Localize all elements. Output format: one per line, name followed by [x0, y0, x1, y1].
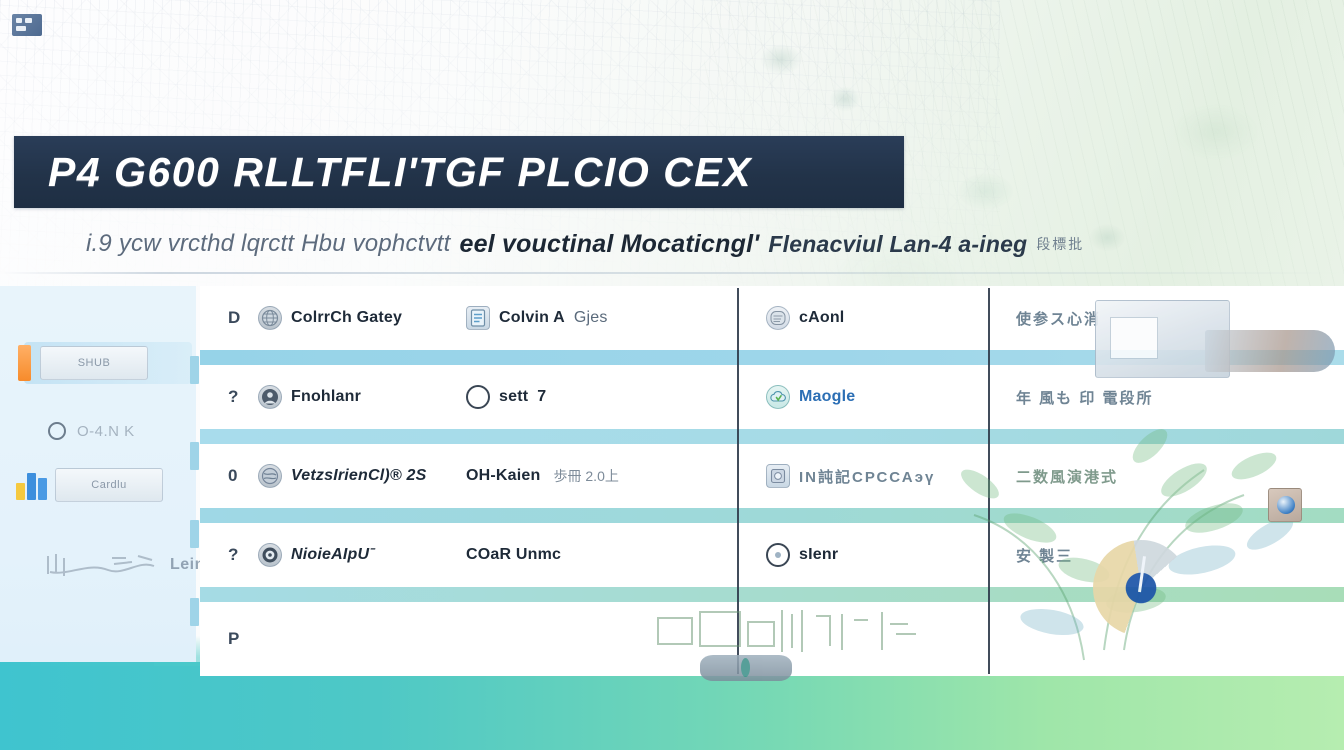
sidebar-item-2[interactable]: Cardlu: [16, 462, 163, 508]
cell-label: 年 風も 印 電段所: [1016, 387, 1154, 408]
table-row[interactable]: P: [200, 602, 1344, 676]
cell-label: sett: [499, 388, 528, 406]
subtitle-marks: 段標批: [1036, 234, 1084, 254]
row-index: 0: [200, 466, 258, 486]
cell-col1[interactable]: NioieAIpUˉ: [258, 543, 466, 567]
ring-icon: [258, 543, 282, 567]
table-row[interactable]: 0 VetzsIrienCl)® 2S OH-Kaien 歩冊 2.0上: [200, 444, 1344, 508]
table-row[interactable]: ? Fnohlanr sett 7 Maogle: [200, 365, 1344, 429]
sidebar-item-0[interactable]: SHUB: [18, 340, 148, 386]
globe-icon: [258, 306, 282, 330]
subtitle-lead: i.9 ycw vrcthd lqrctt Hbu vophctvtt: [86, 230, 450, 258]
page-title: P4 G600 RLLTFLI'TGF PLCIO CEX: [14, 149, 752, 196]
cell-label: Fnohlanr: [291, 388, 361, 406]
row-index: ?: [200, 545, 258, 565]
row-separator: [200, 587, 1344, 602]
cell-col2[interactable]: OH-Kaien 歩冊 2.0上: [466, 466, 736, 486]
sidebar-item-label: O-4.N K: [77, 423, 135, 440]
globe-icon: [258, 464, 282, 488]
cell-label: VetzsIrienCl)® 2S: [291, 467, 427, 485]
cell-label: IN訰記СРССАэү: [799, 466, 935, 487]
cell-col1[interactable]: ColrrCh Gatey: [258, 306, 466, 330]
cell-label: cAonl: [799, 309, 844, 327]
cell-label: Maogle: [799, 388, 855, 406]
page-subtitle: i.9 ycw vrcthd lqrctt Hbu vophctvtt eel …: [86, 222, 1326, 266]
cell-col4[interactable]: 安 製三: [988, 545, 1344, 566]
cell-label: sIenr: [799, 546, 838, 564]
cell-label: Colvin A: [499, 309, 565, 327]
sidebar-item-1[interactable]: O-4.N K: [48, 408, 135, 454]
cell-label: 安 製三: [1016, 545, 1073, 566]
orange-bar-icon: [18, 345, 31, 381]
row-separator: [200, 508, 1344, 523]
data-table: D ColrrCh Gatey Colvin A Gjes: [200, 286, 1344, 676]
cell-col1[interactable]: VetzsIrienCl)® 2S: [258, 464, 466, 488]
bar-chart-icon: [16, 470, 47, 500]
cell-col4[interactable]: 使参ス心消: [988, 308, 1344, 329]
row-index: D: [200, 308, 258, 328]
circle-outline-icon: [48, 422, 66, 440]
sidebar-edge-marker-1: [190, 356, 199, 384]
circle-outline-icon: [766, 543, 790, 567]
sidebar-item-label: SHUB: [40, 346, 148, 380]
cell-col3[interactable]: Maogle: [736, 385, 988, 409]
table-row[interactable]: ? NioieAIpUˉ COaR Unmc sIenr: [200, 523, 1344, 587]
cell-col2[interactable]: sett 7: [466, 385, 736, 409]
column-divider-1: [737, 288, 739, 674]
column-divider-2: [988, 288, 990, 674]
cell-label: ColrrCh Gatey: [291, 309, 402, 327]
cell-label: 使参ス心消: [1016, 308, 1101, 329]
cell-label: 二数風演港式: [1016, 466, 1118, 487]
subtitle-bold: eel vouctinal Mocaticngl': [459, 230, 759, 259]
sidebar-item-label: Cardlu: [55, 468, 163, 502]
subtitle-divider: [0, 272, 1344, 274]
cell-label: OH-Kaien: [466, 467, 541, 485]
page-title-banner: P4 G600 RLLTFLI'TGF PLCIO CEX: [14, 136, 904, 208]
sidebar-edge-marker-3: [190, 520, 199, 548]
avatar-icon: [258, 385, 282, 409]
app-badge-icon: [12, 14, 42, 36]
cell-col2[interactable]: Colvin A Gjes: [466, 306, 736, 330]
cell-col4[interactable]: 年 風も 印 電段所: [988, 387, 1344, 408]
cell-sublabel: Gjes: [574, 309, 608, 327]
badge-icon: [766, 306, 790, 330]
subtitle-tail: Flenacviul Lan-4 a-ineg: [768, 231, 1027, 258]
cell-col3[interactable]: sIenr: [736, 543, 988, 567]
row-index: ?: [200, 387, 258, 407]
sidebar-edge-marker-4: [190, 598, 199, 626]
sketch-icon: [42, 550, 162, 580]
panel-icon: [766, 464, 790, 488]
cell-label: NioieAIpUˉ: [291, 546, 375, 564]
cloud-icon: [766, 385, 790, 409]
cell-col1[interactable]: Fnohlanr: [258, 385, 466, 409]
document-icon: [466, 306, 490, 330]
cell-col2[interactable]: COaR Unmc: [466, 546, 736, 564]
sidebar-edge-marker-2: [190, 442, 199, 470]
row-index: P: [200, 629, 258, 649]
cell-label: COaR Unmc: [466, 546, 561, 564]
row-separator: [200, 429, 1344, 444]
cell-sublabel: 7: [537, 388, 546, 406]
cell-col3[interactable]: cAonl: [736, 306, 988, 330]
row-separator: [200, 350, 1344, 365]
sidebar: SHUB O-4.N K Cardlu Lein-/0aBs: [0, 286, 196, 662]
cell-col4[interactable]: 二数風演港式: [988, 466, 1344, 487]
cell-sublabel: 歩冊 2.0上: [554, 466, 619, 486]
table-row[interactable]: D ColrrCh Gatey Colvin A Gjes: [200, 286, 1344, 350]
circle-outline-icon: [466, 385, 490, 409]
cell-col3[interactable]: IN訰記СРССАэү: [736, 464, 988, 488]
